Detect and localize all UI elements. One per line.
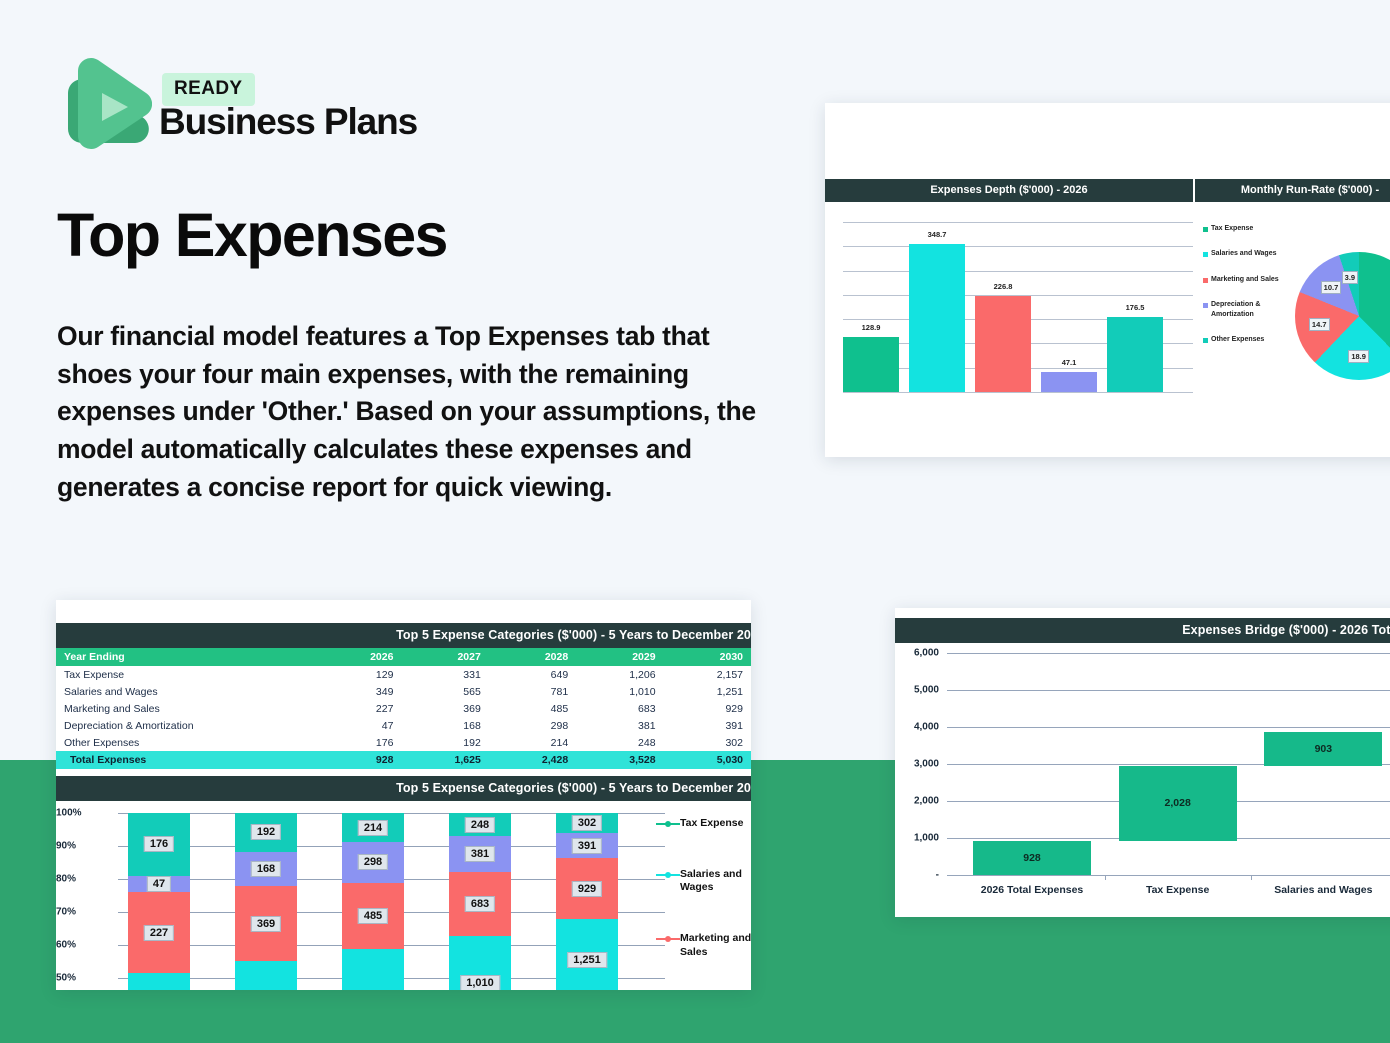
depth-bar: 47.1 — [1041, 372, 1097, 392]
waterfall-bar: 928 — [973, 841, 1091, 875]
page-description: Our financial model features a Top Expen… — [57, 318, 757, 506]
table-row: Marketing and Sales227369485683929 — [56, 700, 751, 717]
grid-line — [843, 246, 1193, 247]
legend-item: Marketing and Sales — [656, 932, 751, 958]
segment-value: 168 — [251, 861, 281, 877]
stacked-segment: 369 — [235, 886, 297, 961]
waterfall-value: 928 — [1023, 852, 1041, 864]
stacked-segment: 381 — [449, 836, 511, 872]
expenses-bridge-card: Expenses Bridge ($'000) - 2026 Total Exp… — [895, 608, 1390, 917]
legend-label: Tax Expense — [1211, 224, 1253, 233]
table-row: Depreciation & Amortization4716829838139… — [56, 717, 751, 734]
top5-expense-categories-card: Top 5 Expense Categories ($'000) - 5 Yea… — [56, 600, 751, 990]
y-axis-tick: 50% — [56, 973, 108, 984]
grid-line — [843, 222, 1193, 223]
stacked-chart-title: Top 5 Expense Categories ($'000) - 5 Yea… — [56, 776, 751, 801]
table-row: Other Expenses176192214248302 — [56, 734, 751, 751]
table-cell: 649 — [489, 666, 576, 683]
segment-value: 47 — [147, 876, 171, 892]
y-axis-tick: 100% — [56, 808, 108, 819]
stacked-chart-body: Tax ExpenseSalaries and WagesMarketing a… — [56, 801, 751, 990]
expenses-bridge-body: -1,0002,0003,0004,0005,0006,0009282026 T… — [895, 643, 1390, 905]
table-cell: 485 — [489, 700, 576, 717]
segment-value: 381 — [465, 846, 495, 862]
stacked-segment: 168 — [235, 852, 297, 886]
depth-bar-value: 348.7 — [928, 230, 947, 239]
table-cell: 248 — [576, 734, 663, 751]
total-cell: 928 — [320, 751, 401, 769]
table-col-header: 2026 — [320, 648, 401, 666]
stacked-segment: 485 — [342, 883, 404, 949]
stacked-bar: 3023919291,251 — [556, 813, 618, 990]
total-row-label: Total Expenses — [56, 751, 320, 769]
table-cell: 381 — [576, 717, 663, 734]
segment-value: 227 — [144, 925, 174, 941]
stacked-segment: 298 — [342, 842, 404, 883]
table-cell: 683 — [576, 700, 663, 717]
stacked-segment: 391 — [556, 833, 618, 859]
y-axis-tick: 5,000 — [895, 685, 939, 696]
depth-bar: 176.5 — [1107, 317, 1163, 392]
segment-value: 176 — [144, 836, 174, 852]
table-row-label: Marketing and Sales — [56, 700, 320, 717]
legend-marker — [656, 934, 680, 943]
table-col-header: 2029 — [576, 648, 663, 666]
stacked-bar: 214298485781 — [342, 813, 404, 990]
legend-item: Tax Expense — [1203, 224, 1303, 233]
legend-swatch — [1203, 303, 1208, 308]
segment-value: 1,010 — [460, 975, 500, 990]
pie-slice-value: 14.7 — [1309, 318, 1330, 331]
table-cell: 176 — [320, 734, 401, 751]
stacked-chart-legend: Tax ExpenseSalaries and WagesMarketing a… — [656, 817, 751, 990]
stacked-segment: 683 — [449, 872, 511, 936]
stacked-segment: 214 — [342, 813, 404, 842]
waterfall-bar: 903 — [1264, 732, 1382, 765]
total-cell: 2,428 — [489, 751, 576, 769]
segment-value: 214 — [358, 820, 388, 836]
table-cell: 391 — [664, 717, 751, 734]
legend-marker — [656, 819, 680, 828]
legend-item: Depreciation & Amortization — [1203, 300, 1303, 319]
grid-line — [947, 727, 1390, 728]
topright-title-bar: Expenses Depth ($'000) - 2026 Monthly Ru… — [825, 179, 1390, 202]
table-cell: 1,010 — [576, 683, 663, 700]
table-cell: 214 — [489, 734, 576, 751]
x-axis-label: Tax Expense — [1146, 884, 1209, 896]
legend-item: Tax Expense — [656, 817, 751, 830]
legend-swatch — [1203, 338, 1208, 343]
legend-label: Tax Expense — [680, 817, 743, 830]
table-body: Tax Expense1293316491,2062,157Salaries a… — [56, 666, 751, 751]
y-axis-tick: 80% — [56, 874, 108, 885]
depth-bar: 348.7 — [909, 244, 965, 392]
y-axis-tick: - — [895, 870, 939, 881]
page-title: Top Expenses — [57, 203, 447, 267]
expenses-depth-body: 128.9348.7226.847.1176.5 Tax ExpenseSala… — [825, 222, 1390, 412]
legend-label: Other Expenses — [1211, 335, 1264, 344]
monthly-run-rate-pie: 18.914.710.73.9 — [1295, 252, 1390, 380]
legend-label: Marketing and Sales — [1211, 275, 1279, 284]
stacked-segment: 929 — [556, 858, 618, 919]
expenses-depth-legend: Tax ExpenseSalaries and WagesMarketing a… — [1203, 224, 1303, 361]
segment-value: 248 — [465, 817, 495, 833]
waterfall-bar: 2,028 — [1119, 766, 1237, 841]
waterfall-value: 903 — [1315, 743, 1333, 755]
brand-logo: READY Business Plans — [56, 55, 436, 160]
stacked-segment: 781 — [342, 949, 404, 990]
table-row-label: Tax Expense — [56, 666, 320, 683]
stacked-segment: 176 — [128, 813, 190, 876]
y-axis-tick: 70% — [56, 907, 108, 918]
segment-value: 369 — [251, 916, 281, 932]
pie-slice-value: 18.9 — [1348, 350, 1369, 363]
total-cell: 1,625 — [401, 751, 488, 769]
monthly-run-rate-title: Monthly Run-Rate ($'000) - — [1195, 179, 1390, 202]
table-cell: 2,157 — [664, 666, 751, 683]
table-cell: 129 — [320, 666, 401, 683]
table-col-header: 2027 — [401, 648, 488, 666]
expenses-bridge-title: Expenses Bridge ($'000) - 2026 Total Exp… — [895, 618, 1390, 643]
play-triangle-logo-icon — [56, 55, 152, 160]
total-cell: 5,030 — [664, 751, 751, 769]
legend-swatch — [1203, 278, 1208, 283]
stacked-bar: 2483816831,010 — [449, 813, 511, 990]
legend-item: Other Expenses — [1203, 335, 1303, 344]
segment-value: 298 — [358, 854, 388, 870]
segment-value: 929 — [572, 881, 602, 897]
table-col-header: 2028 — [489, 648, 576, 666]
stacked-bar: 17647227349 — [128, 813, 190, 990]
segment-value: 302 — [572, 815, 602, 831]
depth-bar-value: 128.9 — [862, 323, 881, 332]
stacked-segment: 227 — [128, 892, 190, 973]
depth-bar: 128.9 — [843, 337, 899, 392]
table-cell: 1,206 — [576, 666, 663, 683]
legend-swatch — [1203, 227, 1208, 232]
legend-item: Marketing and Sales — [1203, 275, 1303, 284]
table-cell: 781 — [489, 683, 576, 700]
table-col-header: 2030 — [664, 648, 751, 666]
y-axis-tick: 2,000 — [895, 796, 939, 807]
legend-label: Depreciation & Amortization — [1211, 300, 1303, 319]
table-cell: 192 — [401, 734, 488, 751]
stacked-segment: 192 — [235, 813, 297, 852]
pie-slice-value: 10.7 — [1321, 281, 1342, 294]
table-row: Tax Expense1293316491,2062,157 — [56, 666, 751, 683]
y-axis-tick: 4,000 — [895, 722, 939, 733]
table-cell: 227 — [320, 700, 401, 717]
stacked-segment: 302 — [556, 813, 618, 833]
pie-slice-value: 3.9 — [1342, 271, 1358, 284]
table-panel-title: Top 5 Expense Categories ($'000) - 5 Yea… — [56, 623, 751, 648]
grid-line — [947, 690, 1390, 691]
x-axis-tick — [1105, 875, 1106, 880]
table-cell: 349 — [320, 683, 401, 700]
grid-line — [947, 653, 1390, 654]
segment-value: 1,251 — [567, 952, 607, 968]
stacked-segment: 1,010 — [449, 936, 511, 990]
table-cell: 929 — [664, 700, 751, 717]
table-cell: 369 — [401, 700, 488, 717]
stacked-segment: 1,251 — [556, 919, 618, 990]
stacked-segment: 349 — [128, 973, 190, 990]
legend-label: Salaries and Wages — [1211, 249, 1277, 258]
table-cell: 331 — [401, 666, 488, 683]
legend-item: Salaries and Wages — [1203, 249, 1303, 258]
y-axis-tick: 1,000 — [895, 833, 939, 844]
brand-name: Business Plans — [159, 101, 417, 143]
table-row-label: Salaries and Wages — [56, 683, 320, 700]
stacked-bar: 192168369565 — [235, 813, 297, 990]
table-cell: 565 — [401, 683, 488, 700]
table-cell: 298 — [489, 717, 576, 734]
table-row-label: Other Expenses — [56, 734, 320, 751]
segment-value: 391 — [572, 838, 602, 854]
y-axis-tick: 90% — [56, 841, 108, 852]
depth-bar-value: 47.1 — [1062, 358, 1077, 367]
y-axis-tick: 3,000 — [895, 759, 939, 770]
stacked-segment: 47 — [128, 876, 190, 893]
table-cell: 1,251 — [664, 683, 751, 700]
table-col-header: Year Ending — [56, 648, 320, 666]
waterfall-value: 2,028 — [1165, 797, 1191, 809]
legend-marker — [656, 870, 680, 879]
table-row: Salaries and Wages3495657811,0101,251 — [56, 683, 751, 700]
x-axis-tick — [1251, 875, 1252, 880]
table-cell: 302 — [664, 734, 751, 751]
expenses-depth-card: Expenses Depth ($'000) - 2026 Monthly Ru… — [825, 103, 1390, 457]
total-cell: 3,528 — [576, 751, 663, 769]
segment-value: 192 — [251, 824, 281, 840]
grid-line — [947, 875, 1390, 876]
table-cell: 47 — [320, 717, 401, 734]
y-axis-tick: 60% — [56, 940, 108, 951]
table-cell: 168 — [401, 717, 488, 734]
y-axis-tick: 6,000 — [895, 648, 939, 659]
depth-bar-value: 176.5 — [1126, 303, 1145, 312]
expenses-depth-plot: 128.9348.7226.847.1176.5 — [843, 222, 1193, 392]
legend-item: Salaries and Wages — [656, 868, 751, 894]
legend-label: Marketing and Sales — [680, 932, 751, 958]
legend-swatch — [1203, 252, 1208, 257]
table-total-row: Total Expenses9281,6252,4283,5285,030 — [56, 751, 751, 769]
depth-bar: 226.8 — [975, 296, 1031, 392]
grid-line — [843, 271, 1193, 272]
stacked-segment: 565 — [235, 961, 297, 990]
depth-bar-value: 226.8 — [994, 282, 1013, 291]
legend-label: Salaries and Wages — [680, 868, 751, 894]
table-row-label: Depreciation & Amortization — [56, 717, 320, 734]
grid-line — [843, 392, 1193, 393]
x-axis-label: Salaries and Wages — [1274, 884, 1372, 896]
segment-value: 683 — [465, 896, 495, 912]
x-axis-label: 2026 Total Expenses — [981, 884, 1084, 896]
expenses-depth-title: Expenses Depth ($'000) - 2026 — [825, 179, 1195, 202]
table-header-row: Year Ending20262027202820292030 — [56, 648, 751, 666]
stacked-segment: 248 — [449, 813, 511, 836]
segment-value: 485 — [358, 908, 388, 924]
top5-expense-table: Year Ending20262027202820292030 Tax Expe… — [56, 648, 751, 769]
